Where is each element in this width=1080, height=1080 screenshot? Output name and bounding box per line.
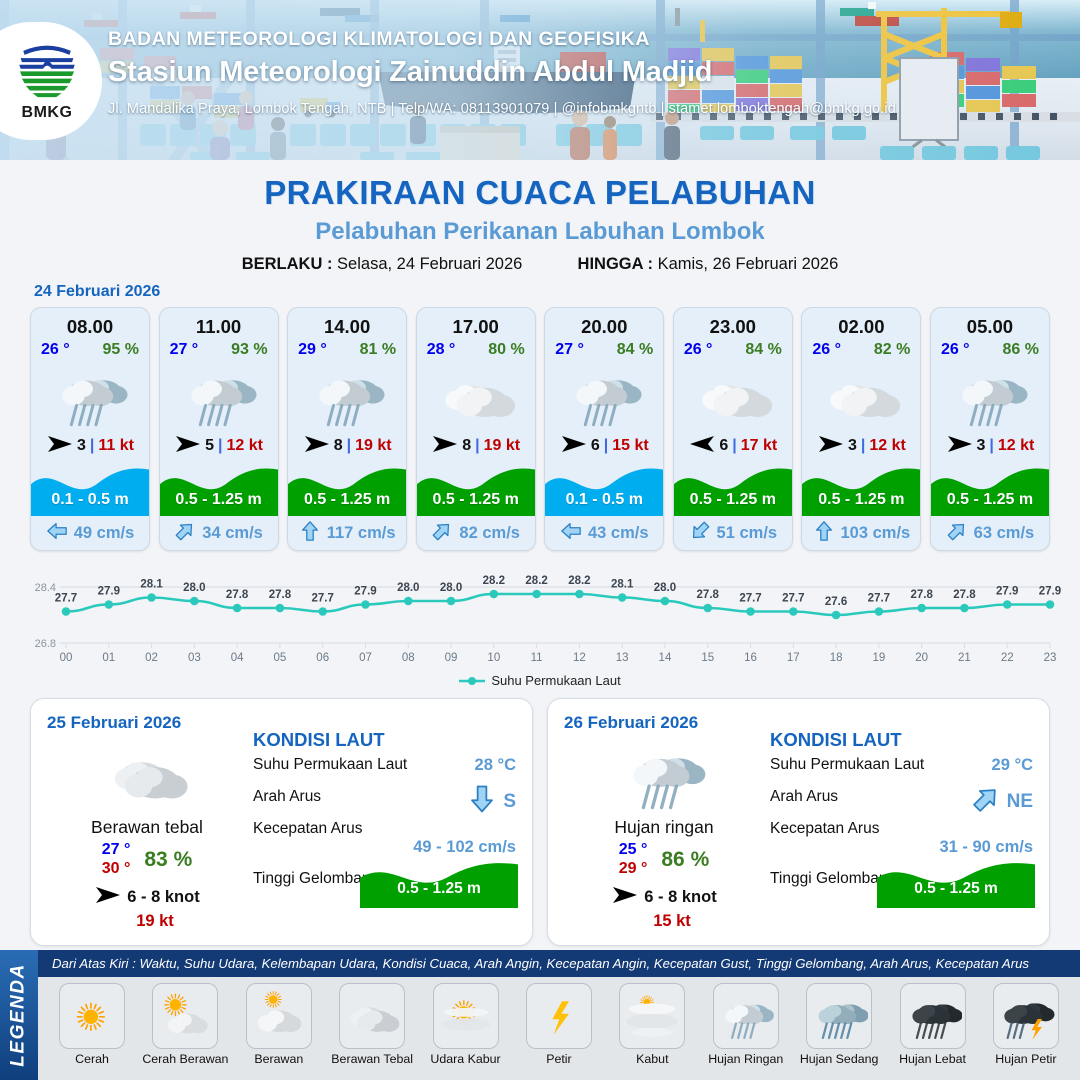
legend-side-label: LEGENDA bbox=[8, 963, 30, 1066]
bmkg-logo-mark bbox=[14, 41, 80, 103]
hourly-card: 08.00 26 ° 95 % 3 | 11 kt 0.1 - 0.5 m bbox=[30, 307, 150, 551]
light-rain-icon bbox=[564, 739, 764, 811]
legend-item-label: Hujan Sedang bbox=[795, 1052, 883, 1066]
sst-value: 29 °C bbox=[992, 756, 1033, 775]
wave-height-block: 0.5 - 1.25 m bbox=[417, 461, 535, 516]
svg-text:27.8: 27.8 bbox=[910, 589, 933, 601]
legend-item-label: Berawan Tebal bbox=[328, 1052, 416, 1066]
svg-text:19: 19 bbox=[872, 652, 885, 664]
valid-to-value: Kamis, 26 Februari 2026 bbox=[658, 255, 839, 273]
validity-range: BERLAKU : Selasa, 24 Februari 2026 HINGG… bbox=[0, 255, 1080, 274]
wind-gust: 11 kt bbox=[98, 437, 134, 455]
sea-conditions-title: KONDISI LAUT bbox=[770, 729, 1035, 751]
legend-note: Dari Atas Kiri : Waktu, Suhu Udara, Kele… bbox=[38, 950, 1080, 977]
valid-from-label: BERLAKU : bbox=[242, 255, 333, 273]
sun-icon bbox=[59, 983, 125, 1049]
svg-text:18: 18 bbox=[830, 652, 843, 664]
hourly-time: 11.00 bbox=[160, 308, 278, 338]
current-direction-icon bbox=[689, 520, 711, 547]
hourly-card: 14.00 29 ° 81 % 8 | 19 kt 0.5 - 1.25 m bbox=[287, 307, 407, 551]
valid-from-value: Selasa, 24 Februari 2026 bbox=[337, 255, 522, 273]
legend-item-label: Petir bbox=[515, 1052, 603, 1066]
legend-item-label: Hujan Petir bbox=[982, 1052, 1070, 1066]
hourly-card: 05.00 26 ° 86 % 3 | 12 kt 0.5 - 1.25 m bbox=[930, 307, 1050, 551]
legend-item: Petir bbox=[515, 983, 603, 1066]
wind-direction-icon bbox=[303, 435, 331, 458]
wind-speed: 3 bbox=[77, 437, 86, 455]
current-direction-icon bbox=[813, 520, 835, 547]
hourly-humidity: 84 % bbox=[617, 341, 653, 359]
legend-bar: LEGENDA Dari Atas Kiri : Waktu, Suhu Uda… bbox=[0, 950, 1080, 1080]
wave-height-block: 0.5 - 1.25 m bbox=[674, 461, 792, 516]
hourly-time: 20.00 bbox=[545, 308, 663, 338]
svg-text:28.0: 28.0 bbox=[183, 582, 205, 594]
sst-label: Suhu Permukaan Laut bbox=[253, 756, 407, 773]
daily-wind-gust: 19 kt bbox=[47, 912, 247, 931]
agency-name: BADAN METEOROLOGI KLIMATOLOGI DAN GEOFIS… bbox=[108, 28, 896, 51]
hourly-temperature: 26 ° bbox=[41, 341, 70, 359]
legend-item: Udara Kabur bbox=[422, 983, 510, 1066]
wave-height-value: 0.5 - 1.25 m bbox=[674, 491, 792, 509]
wave-height-value: 0.5 - 1.25 m bbox=[931, 491, 1049, 509]
wind-gust: 19 kt bbox=[355, 437, 391, 455]
svg-text:23: 23 bbox=[1044, 652, 1057, 664]
current-speed: 51 cm/s bbox=[717, 524, 778, 543]
wind-direction-icon bbox=[817, 435, 845, 458]
svg-text:06: 06 bbox=[316, 652, 329, 664]
svg-text:26.8: 26.8 bbox=[35, 638, 56, 650]
svg-text:09: 09 bbox=[445, 652, 458, 664]
legend-item-label: Berawan bbox=[235, 1052, 323, 1066]
daily-temp-min: 27 ° bbox=[102, 841, 131, 859]
hourly-temperature: 26 ° bbox=[812, 341, 841, 359]
legend-item-label: Udara Kabur bbox=[422, 1052, 510, 1066]
hourly-card: 17.00 28 ° 80 % 8 | 19 kt 0.5 - 1.25 m bbox=[416, 307, 536, 551]
hourly-card: 20.00 27 ° 84 % 6 | 15 kt 0.1 - 0.5 m bbox=[544, 307, 664, 551]
current-speed: 49 cm/s bbox=[74, 524, 135, 543]
daily-forecast-row: 25 Februari 2026 Berawan tebal 27 ° 30 °… bbox=[0, 688, 1080, 946]
wind-gust: 12 kt bbox=[869, 437, 905, 455]
current-direction-icon bbox=[467, 784, 497, 819]
current-direction-icon bbox=[431, 520, 453, 547]
separator: | bbox=[989, 437, 993, 455]
separator: | bbox=[475, 437, 479, 455]
hourly-humidity: 80 % bbox=[488, 341, 524, 359]
svg-text:14: 14 bbox=[659, 652, 672, 664]
hourly-forecast-row: 08.00 26 ° 95 % 3 | 11 kt 0.1 - 0.5 m bbox=[0, 301, 1080, 551]
hourly-temperature: 29 ° bbox=[298, 341, 327, 359]
separator: | bbox=[347, 437, 351, 455]
svg-text:04: 04 bbox=[231, 652, 244, 664]
svg-text:08: 08 bbox=[402, 652, 415, 664]
wind-direction-icon bbox=[94, 886, 122, 909]
hourly-time: 02.00 bbox=[802, 308, 920, 338]
legend-body: Dari Atas Kiri : Waktu, Suhu Udara, Kele… bbox=[38, 950, 1080, 1080]
wind-direction-icon bbox=[431, 435, 459, 458]
svg-text:27.8: 27.8 bbox=[697, 589, 720, 601]
legend-item: Berawan bbox=[235, 983, 323, 1066]
wave-height-block: 0.5 - 1.25 m bbox=[160, 461, 278, 516]
svg-text:05: 05 bbox=[274, 652, 287, 664]
svg-text:27.9: 27.9 bbox=[98, 586, 120, 598]
chart-legend-label: Suhu Permukaan Laut bbox=[491, 673, 620, 688]
wave-height-value: 0.5 - 1.25 m bbox=[288, 491, 406, 509]
current-direction-label: Arah Arus bbox=[770, 788, 838, 805]
daily-wind-speed: 6 - 8 knot bbox=[644, 888, 716, 907]
wind-direction-icon bbox=[560, 435, 588, 458]
wave-height-block: 0.5 - 1.25 m bbox=[288, 461, 406, 516]
legend-item-label: Hujan Lebat bbox=[889, 1052, 977, 1066]
svg-text:00: 00 bbox=[60, 652, 73, 664]
svg-text:07: 07 bbox=[359, 652, 372, 664]
page-header: BMKG BADAN METEOROLOGI KLIMATOLOGI DAN G… bbox=[0, 0, 1080, 160]
wind-gust: 12 kt bbox=[998, 437, 1034, 455]
current-direction-icon bbox=[971, 784, 1001, 819]
hourly-card: 11.00 27 ° 93 % 5 | 12 kt 0.5 - 1.25 m bbox=[159, 307, 279, 551]
wave-height-block: 0.1 - 0.5 m bbox=[31, 461, 149, 516]
wave-height-block: 0.1 - 0.5 m bbox=[545, 461, 663, 516]
svg-text:27.7: 27.7 bbox=[782, 593, 804, 605]
daily-temp-min: 25 ° bbox=[619, 841, 648, 859]
svg-text:13: 13 bbox=[616, 652, 629, 664]
svg-text:28.0: 28.0 bbox=[397, 582, 419, 594]
sea-conditions-title: KONDISI LAUT bbox=[253, 729, 518, 751]
hourly-day-label: 24 Februari 2026 bbox=[34, 283, 1080, 301]
hourly-humidity: 95 % bbox=[103, 341, 139, 359]
current-speed: 103 cm/s bbox=[841, 524, 911, 543]
svg-text:28.2: 28.2 bbox=[483, 575, 505, 587]
svg-text:28.0: 28.0 bbox=[440, 582, 462, 594]
hourly-temperature: 26 ° bbox=[684, 341, 713, 359]
sst-chart: 28.426.800010203040506070809101112131415… bbox=[0, 561, 1080, 671]
hourly-time: 17.00 bbox=[417, 308, 535, 338]
separator: | bbox=[90, 437, 94, 455]
svg-text:28.0: 28.0 bbox=[654, 582, 676, 594]
legend-item: Hujan Sedang bbox=[795, 983, 883, 1066]
current-direction-value: NE bbox=[1007, 791, 1033, 813]
chart-legend-marker-icon bbox=[459, 676, 485, 686]
thunderstorm-icon bbox=[993, 983, 1059, 1049]
header-text-block: BADAN METEOROLOGI KLIMATOLOGI DAN GEOFIS… bbox=[108, 28, 896, 117]
legend-item-label: Cerah Berawan bbox=[141, 1052, 229, 1066]
wind-speed: 8 bbox=[462, 437, 471, 455]
separator: | bbox=[861, 437, 865, 455]
legend-item: Cerah Berawan bbox=[141, 983, 229, 1066]
svg-text:02: 02 bbox=[145, 652, 158, 664]
cloudy-icon bbox=[674, 359, 792, 431]
hourly-temperature: 26 ° bbox=[941, 341, 970, 359]
overcast-icon bbox=[47, 739, 247, 811]
current-speed-label: Kecepatan Arus bbox=[770, 820, 879, 837]
hourly-time: 05.00 bbox=[931, 308, 1049, 338]
current-speed-value: 49 - 102 cm/s bbox=[413, 838, 516, 857]
legend-item: Kabut bbox=[608, 983, 696, 1066]
chart-legend: Suhu Permukaan Laut bbox=[0, 673, 1080, 688]
hourly-time: 14.00 bbox=[288, 308, 406, 338]
svg-text:10: 10 bbox=[487, 652, 500, 664]
hourly-humidity: 93 % bbox=[231, 341, 267, 359]
legend-item: Berawan Tebal bbox=[328, 983, 416, 1066]
wind-gust: 12 kt bbox=[227, 437, 263, 455]
svg-text:21: 21 bbox=[958, 652, 971, 664]
valid-to-label: HINGGA : bbox=[578, 255, 653, 273]
separator: | bbox=[218, 437, 222, 455]
title-block: PRAKIRAAN CUACA PELABUHAN Pelabuhan Peri… bbox=[0, 160, 1080, 274]
legend-item: Cerah bbox=[48, 983, 136, 1066]
current-speed: 117 cm/s bbox=[327, 524, 396, 543]
fog-icon bbox=[619, 983, 685, 1049]
svg-text:28.4: 28.4 bbox=[35, 582, 56, 594]
svg-text:27.8: 27.8 bbox=[953, 589, 976, 601]
hourly-time: 08.00 bbox=[31, 308, 149, 338]
legend-item: Hujan Petir bbox=[982, 983, 1070, 1066]
wind-direction-icon bbox=[688, 435, 716, 458]
daily-forecast-card: 26 Februari 2026 Hujan ringan 25 ° 29 ° … bbox=[547, 698, 1050, 946]
wind-speed: 6 bbox=[719, 437, 728, 455]
separator: | bbox=[604, 437, 608, 455]
light-rain-icon bbox=[288, 359, 406, 431]
wave-height-value: 0.1 - 0.5 m bbox=[31, 491, 149, 509]
wave-height-block: 0.5 - 1.25 m bbox=[802, 461, 920, 516]
svg-text:27.8: 27.8 bbox=[269, 589, 292, 601]
current-direction-label: Arah Arus bbox=[253, 788, 321, 805]
separator: | bbox=[732, 437, 736, 455]
wind-gust: 17 kt bbox=[741, 437, 777, 455]
daily-wind-gust: 15 kt bbox=[564, 912, 764, 931]
hourly-temperature: 27 ° bbox=[555, 341, 584, 359]
wind-direction-icon bbox=[946, 435, 974, 458]
sst-label: Suhu Permukaan Laut bbox=[770, 756, 924, 773]
legend-item: Hujan Lebat bbox=[889, 983, 977, 1066]
hourly-card: 02.00 26 ° 82 % 3 | 12 kt 0.5 - 1.25 m bbox=[801, 307, 921, 551]
wind-speed: 8 bbox=[334, 437, 343, 455]
svg-text:27.7: 27.7 bbox=[739, 593, 761, 605]
current-speed: 82 cm/s bbox=[459, 524, 520, 543]
svg-text:27.7: 27.7 bbox=[868, 593, 890, 605]
haze-icon bbox=[433, 983, 499, 1049]
legend-item: Hujan Ringan bbox=[702, 983, 790, 1066]
page-subtitle: Pelabuhan Perikanan Labuhan Lombok bbox=[0, 218, 1080, 246]
svg-text:27.9: 27.9 bbox=[1039, 586, 1061, 598]
light-rain-icon bbox=[931, 359, 1049, 431]
daily-humidity: 86 % bbox=[661, 848, 709, 872]
page-title: PRAKIRAAN CUACA PELABUHAN bbox=[0, 174, 1080, 212]
wave-height-value: 0.5 - 1.25 m bbox=[877, 880, 1035, 898]
wave-height-value: 0.1 - 0.5 m bbox=[545, 491, 663, 509]
sst-value: 28 °C bbox=[475, 756, 516, 775]
hourly-humidity: 86 % bbox=[1002, 341, 1038, 359]
svg-text:11: 11 bbox=[531, 652, 543, 664]
svg-text:16: 16 bbox=[744, 652, 757, 664]
daily-humidity: 83 % bbox=[144, 848, 192, 872]
wind-gust: 19 kt bbox=[484, 437, 520, 455]
legend-side-tab: LEGENDA bbox=[0, 950, 38, 1080]
lightning-icon bbox=[526, 983, 592, 1049]
current-speed: 34 cm/s bbox=[202, 524, 263, 543]
current-direction-icon bbox=[174, 520, 196, 547]
wind-speed: 6 bbox=[591, 437, 600, 455]
sst-line-chart: 28.426.800010203040506070809101112131415… bbox=[18, 561, 1062, 669]
current-speed-value: 31 - 90 cm/s bbox=[939, 838, 1033, 857]
wind-direction-icon bbox=[46, 435, 74, 458]
light-rain-icon bbox=[31, 359, 149, 431]
current-speed-label: Kecepatan Arus bbox=[253, 820, 362, 837]
svg-text:27.9: 27.9 bbox=[354, 586, 376, 598]
svg-text:01: 01 bbox=[102, 652, 115, 664]
cloudy-icon bbox=[417, 359, 535, 431]
current-direction-icon bbox=[46, 520, 68, 547]
hourly-humidity: 82 % bbox=[874, 341, 910, 359]
current-direction-icon bbox=[560, 520, 582, 547]
wind-direction-icon bbox=[174, 435, 202, 458]
wave-height-value: 0.5 - 1.25 m bbox=[417, 491, 535, 509]
svg-text:15: 15 bbox=[701, 652, 714, 664]
svg-text:27.6: 27.6 bbox=[825, 596, 847, 608]
svg-text:28.1: 28.1 bbox=[611, 579, 634, 591]
legend-item-label: Cerah bbox=[48, 1052, 136, 1066]
wind-direction-icon bbox=[611, 886, 639, 909]
daily-forecast-card: 25 Februari 2026 Berawan tebal 27 ° 30 °… bbox=[30, 698, 533, 946]
daily-condition: Hujan ringan bbox=[564, 817, 764, 838]
legend-items: Cerah Cerah Berawan Berawan Berawan Teba bbox=[38, 977, 1080, 1066]
svg-text:27.7: 27.7 bbox=[312, 593, 334, 605]
cloudy-icon bbox=[802, 359, 920, 431]
bmkg-logo-text: BMKG bbox=[22, 104, 73, 122]
current-direction-icon bbox=[299, 520, 321, 547]
heavy-rain-icon bbox=[900, 983, 966, 1049]
station-name: Stasiun Meteorologi Zainuddin Abdul Madj… bbox=[108, 56, 896, 89]
daily-temp-max: 29 ° bbox=[619, 860, 648, 878]
current-direction-value: S bbox=[503, 791, 516, 813]
hourly-card: 23.00 26 ° 84 % 6 | 17 kt 0.5 - 1.25 m bbox=[673, 307, 793, 551]
svg-text:28.1: 28.1 bbox=[140, 579, 163, 591]
svg-text:22: 22 bbox=[1001, 652, 1014, 664]
wind-speed: 3 bbox=[977, 437, 986, 455]
svg-text:12: 12 bbox=[573, 652, 586, 664]
current-speed: 43 cm/s bbox=[588, 524, 649, 543]
current-speed: 63 cm/s bbox=[974, 524, 1035, 543]
svg-text:28.2: 28.2 bbox=[525, 575, 547, 587]
cloud-sun-small-icon bbox=[246, 983, 312, 1049]
legend-item-label: Kabut bbox=[608, 1052, 696, 1066]
wave-height-value: 0.5 - 1.25 m bbox=[160, 491, 278, 509]
svg-text:27.9: 27.9 bbox=[996, 586, 1018, 598]
wind-speed: 3 bbox=[848, 437, 857, 455]
svg-text:03: 03 bbox=[188, 652, 201, 664]
svg-text:28.2: 28.2 bbox=[568, 575, 590, 587]
daily-condition: Berawan tebal bbox=[47, 817, 247, 838]
hourly-temperature: 28 ° bbox=[427, 341, 456, 359]
svg-text:27.8: 27.8 bbox=[226, 589, 249, 601]
overcast-icon bbox=[339, 983, 405, 1049]
light-rain-icon bbox=[545, 359, 663, 431]
daily-wind-speed: 6 - 8 knot bbox=[127, 888, 199, 907]
wind-speed: 5 bbox=[205, 437, 214, 455]
legend-item-label: Hujan Ringan bbox=[702, 1052, 790, 1066]
hourly-humidity: 84 % bbox=[745, 341, 781, 359]
svg-text:27.7: 27.7 bbox=[55, 593, 77, 605]
contact-info: Jl. Mandalika Praya, Lombok Tengah, NTB … bbox=[108, 101, 896, 117]
current-direction-icon bbox=[946, 520, 968, 547]
sun-cloud-icon bbox=[152, 983, 218, 1049]
wave-height-value: 0.5 - 1.25 m bbox=[802, 491, 920, 509]
hourly-humidity: 81 % bbox=[360, 341, 396, 359]
svg-text:17: 17 bbox=[787, 652, 800, 664]
hourly-time: 23.00 bbox=[674, 308, 792, 338]
hourly-temperature: 27 ° bbox=[170, 341, 199, 359]
moderate-rain-icon bbox=[806, 983, 872, 1049]
light-rain-icon bbox=[713, 983, 779, 1049]
wind-gust: 15 kt bbox=[612, 437, 648, 455]
svg-text:20: 20 bbox=[915, 652, 928, 664]
wave-height-value: 0.5 - 1.25 m bbox=[360, 880, 518, 898]
daily-temp-max: 30 ° bbox=[102, 860, 131, 878]
light-rain-icon bbox=[160, 359, 278, 431]
wave-height-block: 0.5 - 1.25 m bbox=[931, 461, 1049, 516]
